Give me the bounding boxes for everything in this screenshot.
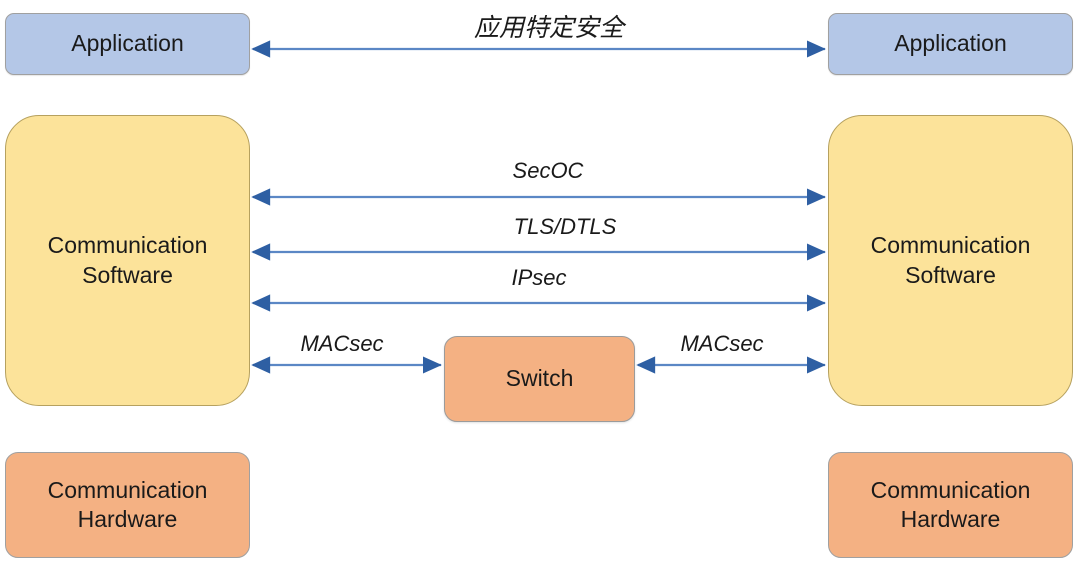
communication-hardware-box-right[interactable]: Communication Hardware [828, 452, 1073, 558]
switch-box[interactable]: Switch [444, 336, 635, 422]
communication-software-box-left[interactable]: Communication Software [5, 115, 250, 406]
connector-label-app-security: 应用特定安全 [474, 8, 624, 44]
connector-label-secoc: SecOC [513, 158, 584, 184]
communication-hardware-right-label: Communication Hardware [871, 476, 1031, 535]
diagram-canvas: Application Application Communication So… [0, 0, 1080, 563]
connector-label-ipsec: IPsec [511, 265, 566, 291]
communication-hardware-left-label: Communication Hardware [48, 476, 208, 535]
communication-software-right-label: Communication Software [871, 231, 1031, 290]
application-box-left[interactable]: Application [5, 13, 250, 75]
communication-hardware-box-left[interactable]: Communication Hardware [5, 452, 250, 558]
connector-label-macsec-left: MACsec [300, 331, 383, 357]
connector-label-macsec-right: MACsec [680, 331, 763, 357]
communication-software-left-label: Communication Software [48, 231, 208, 290]
connector-label-tls-dtls: TLS/DTLS [514, 214, 617, 240]
application-box-right[interactable]: Application [828, 13, 1073, 75]
application-right-label: Application [894, 29, 1007, 58]
switch-label: Switch [506, 364, 574, 393]
application-left-label: Application [71, 29, 184, 58]
communication-software-box-right[interactable]: Communication Software [828, 115, 1073, 406]
